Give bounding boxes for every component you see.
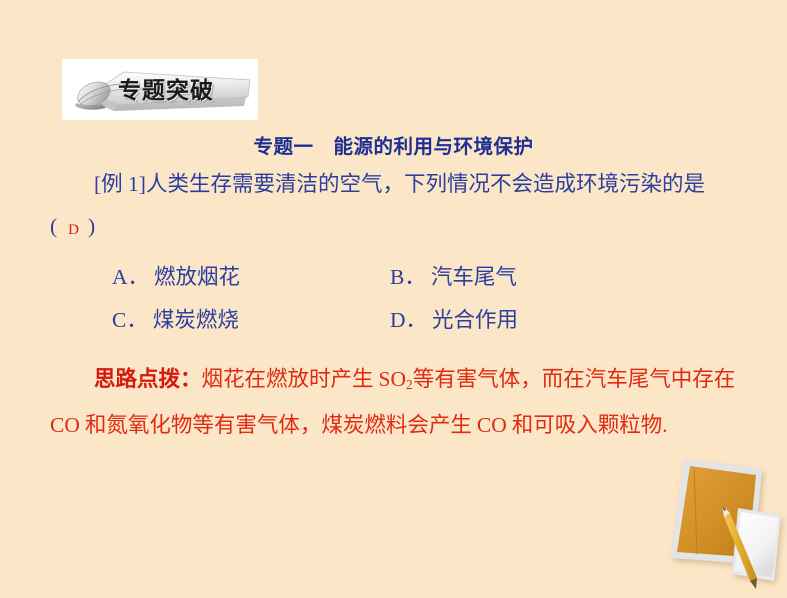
option-c[interactable]: C．煤炭燃烧 (112, 299, 390, 342)
option-d[interactable]: D．光合作用 (390, 299, 668, 342)
explanation-heading: 思路点拨： (94, 367, 202, 391)
formula-so2: SO2 (379, 367, 413, 391)
option-row-1: A．燃放烟花 B．汽车尾气 (112, 256, 787, 299)
option-c-label: C． (112, 308, 148, 332)
option-d-text: 光合作用 (432, 308, 518, 332)
option-row-2: C．煤炭燃烧 D．光合作用 (112, 299, 787, 342)
formula-co-2: CO (477, 413, 507, 437)
answer-options: A．燃放烟花 B．汽车尾气 C．煤炭燃烧 D．光合作用 (0, 256, 787, 342)
explanation-part-3: 和氮氧化物等有害气体，煤炭燃料会产生 (85, 413, 472, 437)
page-title: 专题一 能源的利用与环境保护 (0, 130, 787, 159)
option-a-text: 燃放烟花 (154, 265, 240, 289)
notebook-pencil-illustration (640, 447, 787, 598)
explanation-part-1: 烟花在燃放时产生 (202, 367, 374, 391)
explanation-part-2: 等有害气体，而在汽车尾气中存在 (413, 367, 736, 391)
option-b-label: B． (390, 265, 426, 289)
banner-label: 专题突破 (118, 71, 214, 105)
question-answer: D (57, 222, 88, 238)
option-c-text: 煤炭燃烧 (153, 308, 239, 332)
question-prefix: [例 1] (94, 172, 146, 196)
explanation-part-4: 和可吸入颗粒物. (512, 413, 668, 437)
option-d-label: D． (390, 308, 427, 332)
formula-so2-base: SO (379, 367, 406, 391)
lesson-content: 专题一 能源的利用与环境保护 [例 1]人类生存需要清洁的空气，下列情况不会造成… (0, 130, 787, 445)
section-banner: 专题突破 (62, 59, 258, 120)
question-stem: [例 1]人类生存需要清洁的空气，下列情况不会造成环境污染的是(D) (0, 163, 787, 250)
question-text: 人类生存需要清洁的空气，下列情况不会造成环境污染的是( (50, 172, 705, 238)
question-suffix: ) (88, 214, 95, 238)
explanation-block: 思路点拨：烟花在燃放时产生SO2等有害气体，而在汽车尾气中存在CO和氮氧化物等有… (0, 359, 787, 445)
option-b[interactable]: B．汽车尾气 (390, 256, 668, 299)
formula-co-1: CO (50, 413, 80, 437)
option-b-text: 汽车尾气 (431, 265, 517, 289)
formula-so2-subscript: 2 (406, 377, 413, 392)
option-a-label: A． (112, 265, 149, 289)
option-a[interactable]: A．燃放烟花 (112, 256, 390, 299)
